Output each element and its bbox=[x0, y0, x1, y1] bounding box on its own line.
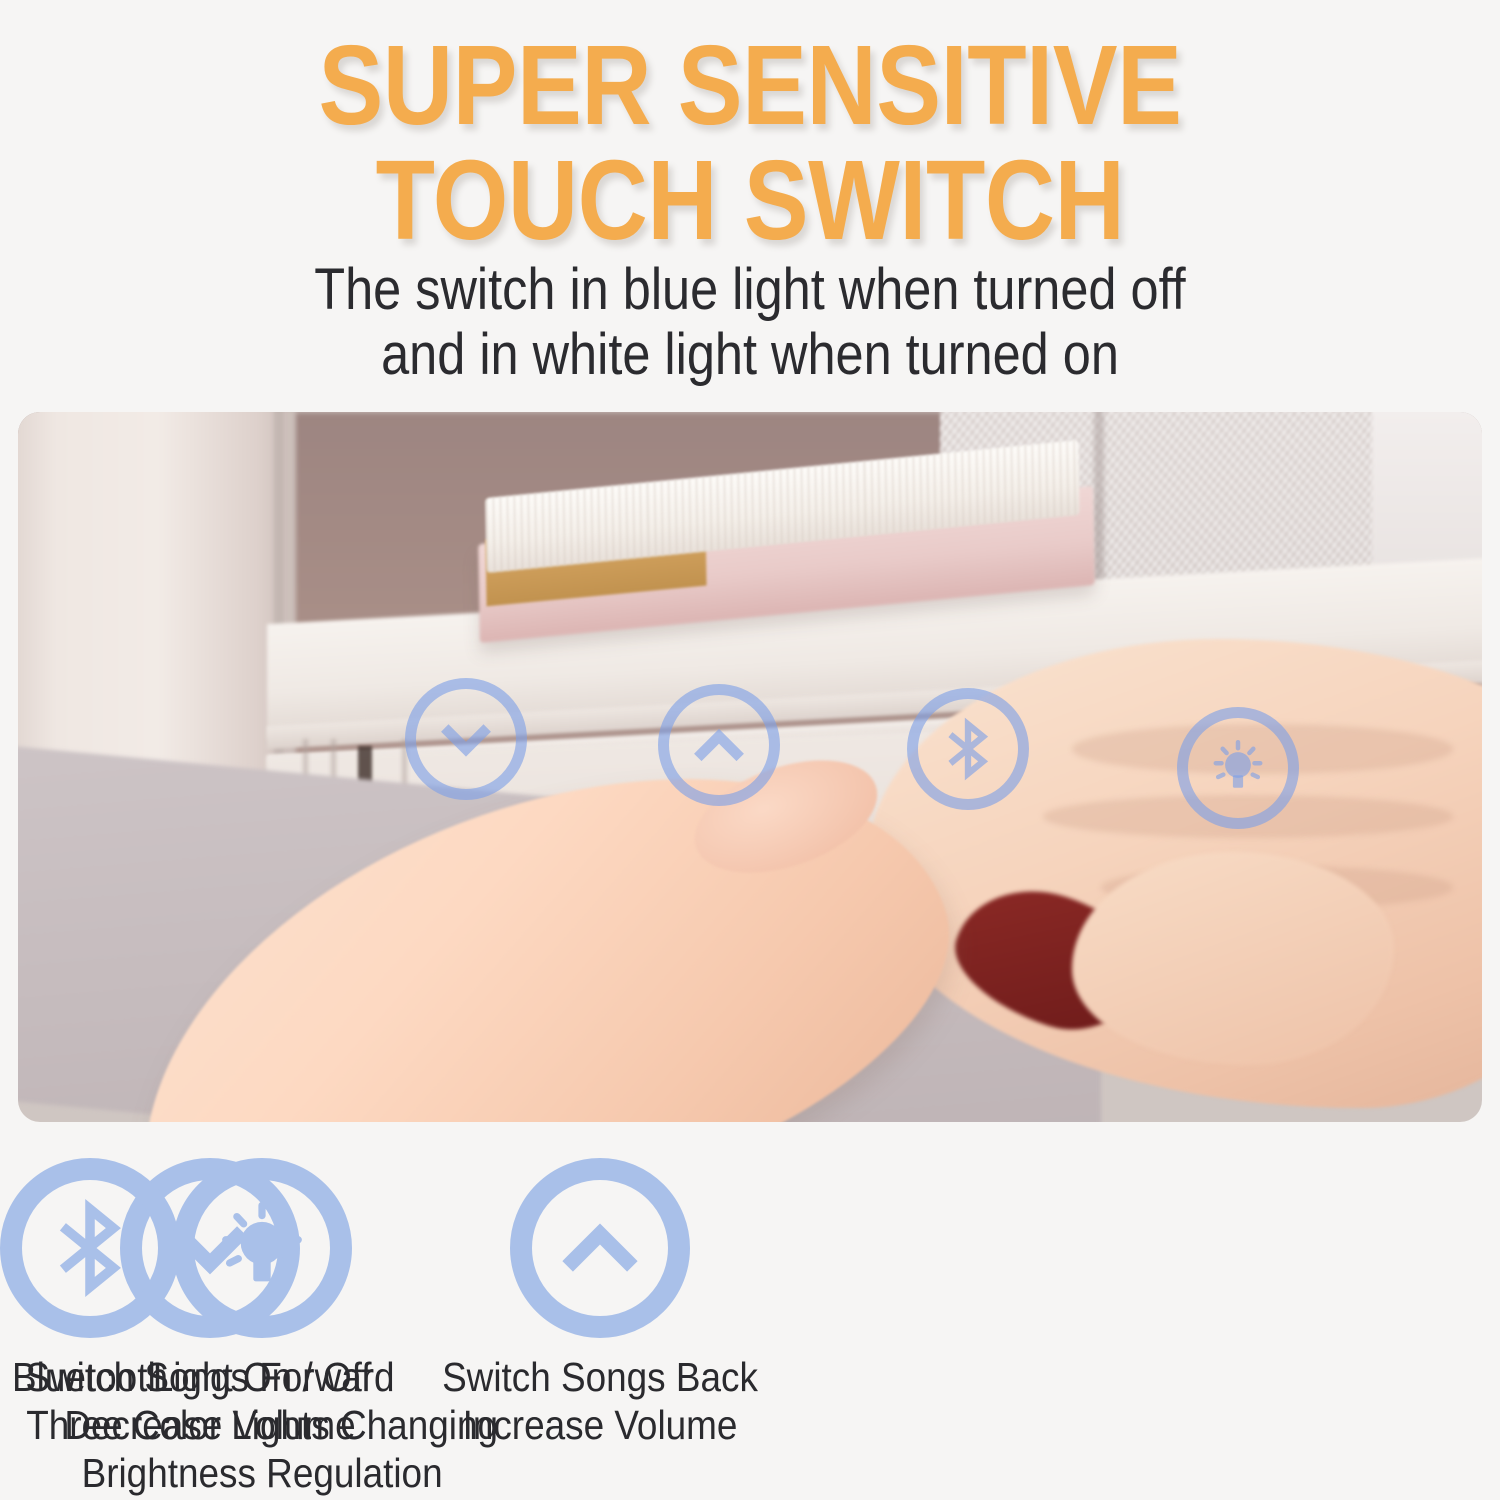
overlay-lightbulb-icon bbox=[1177, 707, 1299, 829]
photo-folded-finger bbox=[1072, 852, 1394, 1065]
page-subtitle: The switch in blue light when turned off… bbox=[98, 258, 1403, 388]
page-title: SUPER SENSITIVE TOUCH SWITCH bbox=[105, 28, 1395, 259]
overlay-bluetooth-icon bbox=[907, 688, 1029, 810]
lightbulb-icon bbox=[172, 1158, 352, 1338]
chevron-up-icon bbox=[669, 695, 769, 795]
bluetooth-icon bbox=[918, 699, 1018, 799]
product-photo bbox=[18, 412, 1482, 1122]
feature-light-on-off[interactable]: Light On / Off Three Color Lights Changi… bbox=[0, 1150, 524, 1498]
feature-row: Switch Songs Forward Decrease Volume Swi… bbox=[0, 1150, 1500, 1500]
chevron-down-icon bbox=[416, 689, 516, 789]
chevron-up-icon bbox=[510, 1158, 690, 1338]
lightbulb-icon bbox=[1188, 718, 1288, 818]
overlay-chevron-up-icon bbox=[658, 684, 780, 806]
feature-label: Light On / Off Three Color Lights Changi… bbox=[26, 1354, 498, 1498]
overlay-chevron-down-icon bbox=[405, 678, 527, 800]
